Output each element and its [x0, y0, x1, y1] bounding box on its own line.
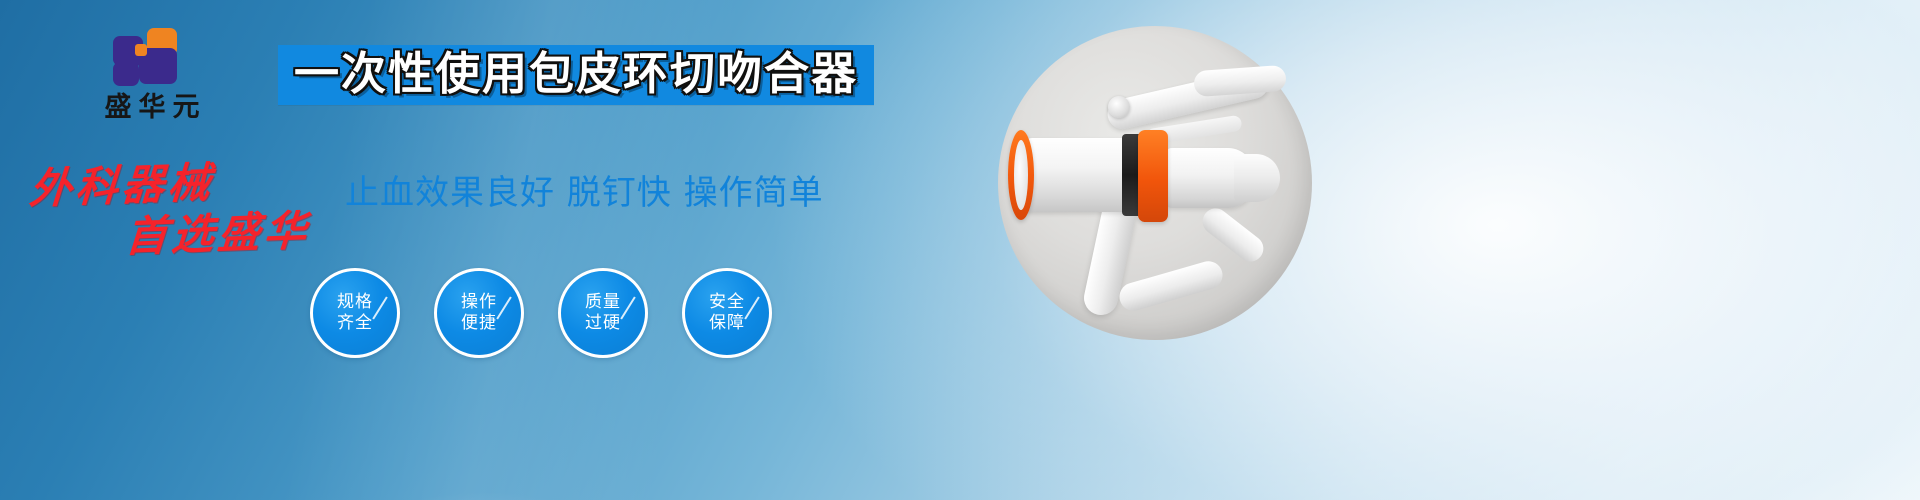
product-part-pivot [1108, 96, 1130, 118]
brand-name: 盛华元 [62, 92, 242, 123]
feature-badge-line-2: 过硬 [585, 313, 621, 334]
feature-badge[interactable]: 质量 过硬 [558, 268, 648, 358]
slash-decor-icon [620, 296, 635, 319]
brand-logo[interactable]: 盛华元 [62, 28, 242, 128]
feature-badge-line-1: 操作 [461, 292, 497, 313]
background-glow [269, 490, 699, 500]
feature-badge-line-2: 便捷 [461, 313, 497, 334]
product-part-tip [1234, 154, 1280, 202]
slash-decor-icon [496, 296, 511, 319]
feature-badge[interactable]: 操作 便捷 [434, 268, 524, 358]
calligraphy-line-2: 首选盛华 [124, 197, 313, 264]
feature-badge-line-1: 安全 [709, 292, 745, 313]
logo-shape-dot-orange [135, 44, 147, 56]
feature-badge-line-1: 质量 [585, 292, 621, 313]
feature-badge[interactable]: 安全 保障 [682, 268, 772, 358]
logo-mark-icon [113, 28, 191, 88]
product-image [998, 26, 1312, 340]
slash-decor-icon [372, 296, 387, 319]
feature-badge[interactable]: 规格 齐全 [310, 268, 400, 358]
promo-banner: 盛华元 一次性使用包皮环切吻合器 外科器械 首选盛华 止血效果良好 脱钉快 操作… [0, 0, 1920, 500]
feature-badge-list: 规格 齐全 操作 便捷 质量 过硬 安全 保障 [310, 268, 772, 358]
product-part-orange-band [1138, 130, 1168, 222]
subtitle: 止血效果良好 脱钉快 操作简单 [345, 165, 824, 214]
product-part-barrel [1022, 138, 1128, 212]
calligraphy-slogan: 外科器械 首选盛华 [18, 152, 348, 262]
feature-badge-line-2: 保障 [709, 313, 745, 334]
product-part-ring-inner [1014, 140, 1028, 210]
main-title-band: 一次性使用包皮环切吻合器 [278, 45, 874, 105]
logo-shape-square-bottom [113, 62, 139, 86]
slash-decor-icon [744, 296, 759, 319]
feature-badge-line-1: 规格 [337, 292, 373, 313]
main-title: 一次性使用包皮环切吻合器 [294, 51, 858, 96]
feature-badge-line-2: 齐全 [337, 313, 373, 334]
